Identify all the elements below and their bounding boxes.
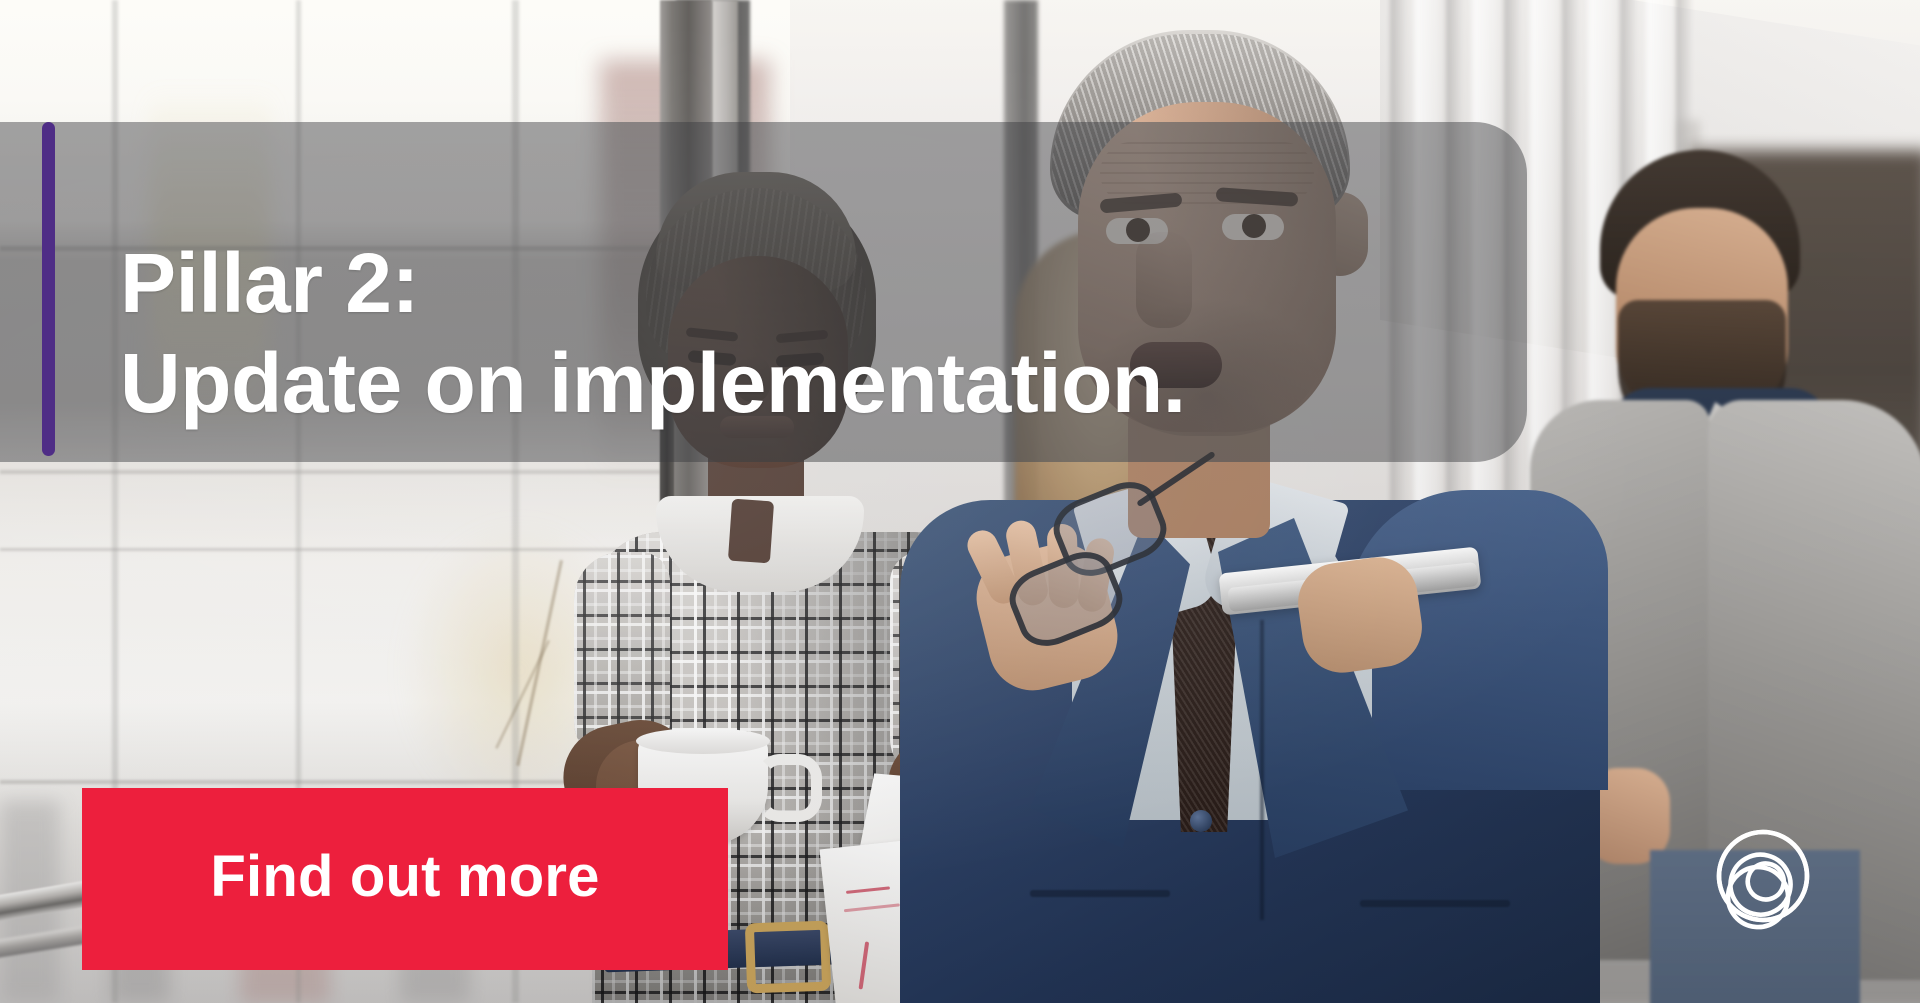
purple-accent-bar [42, 122, 55, 456]
coffee-cup-handle [756, 754, 822, 822]
page-title: Pillar 2: Update on implementation. [120, 234, 1480, 434]
spiral-rosette-logo [1692, 818, 1834, 960]
jacket-button [1190, 810, 1212, 832]
promo-banner: Pillar 2: Update on implementation. Find… [0, 0, 1920, 1003]
coffee-cup-rim [636, 728, 770, 754]
collar-notch [728, 499, 774, 564]
find-out-more-label: Find out more [210, 848, 599, 910]
find-out-more-button[interactable]: Find out more [82, 788, 728, 970]
belt-buckle [745, 921, 831, 994]
